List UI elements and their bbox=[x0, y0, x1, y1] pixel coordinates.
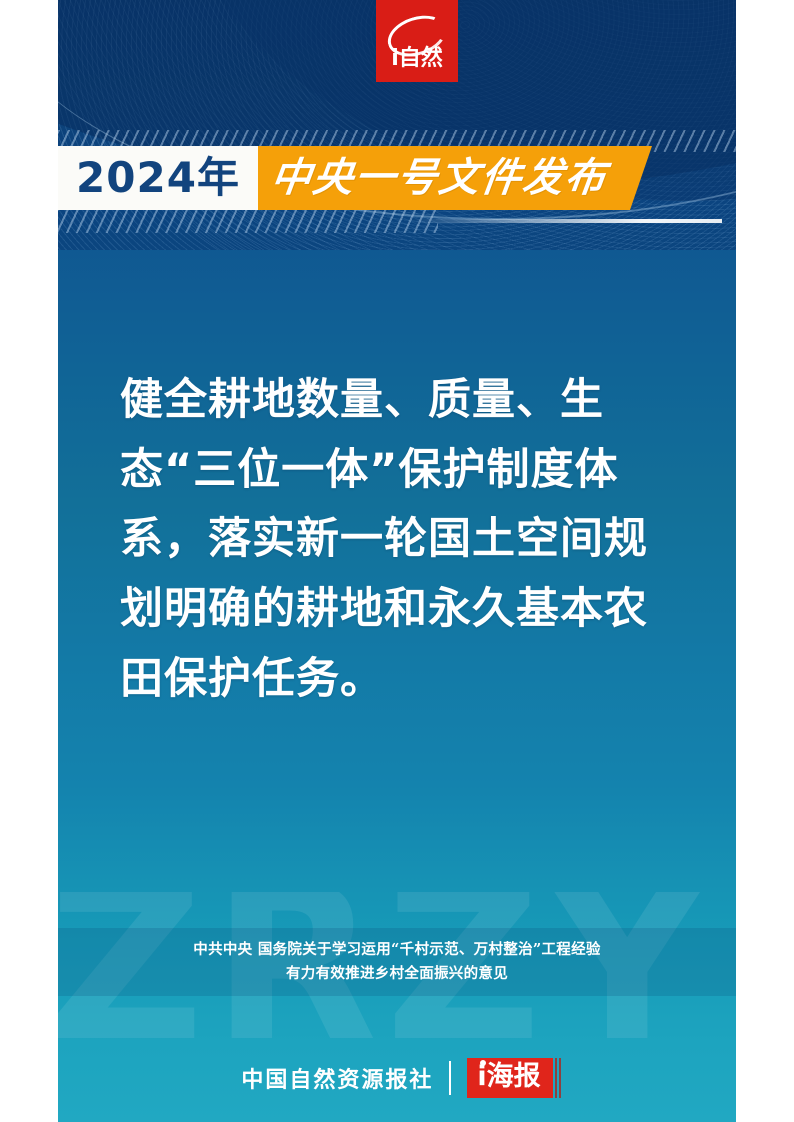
ihaibao-badge-text: i海报 bbox=[477, 1061, 540, 1092]
i-ziran-logo[interactable]: i自然 bbox=[376, 0, 458, 82]
title-highlight-line bbox=[411, 219, 723, 223]
title-banner: 2024年 中央一号文件发布 bbox=[58, 146, 736, 210]
title-headline-block: 中央一号文件发布 bbox=[258, 146, 630, 210]
poster-canvas: i自然 2024年 中央一号文件发布 健全耕地数量、质量、生态“三位一体”保护制… bbox=[58, 0, 736, 1122]
title-year-text: 2024年 bbox=[76, 157, 240, 199]
title-year-block: 2024年 bbox=[58, 146, 258, 210]
footnote-line-1: 中共中央 国务院关于学习运用“千村示范、万村整治”工程经验 bbox=[193, 938, 600, 962]
poster-footer: 中国自然资源报社 i海报 bbox=[58, 1052, 736, 1104]
footer-divider bbox=[449, 1061, 451, 1095]
main-headline: 健全耕地数量、质量、生态“三位一体”保护制度体系，落实新一轮国土空间规划明确的耕… bbox=[120, 366, 680, 714]
logo-text: i自然 bbox=[391, 48, 443, 70]
footnote-line-2: 有力有效推进乡村全面振兴的意见 bbox=[286, 962, 508, 986]
publisher-name: 中国自然资源报社 bbox=[241, 1062, 433, 1094]
hatch-band-bottom bbox=[58, 207, 438, 233]
title-headline-text: 中央一号文件发布 bbox=[269, 158, 610, 198]
ihaibao-badge[interactable]: i海报 bbox=[467, 1058, 552, 1097]
document-title-footnote: 中共中央 国务院关于学习运用“千村示范、万村整治”工程经验 有力有效推进乡村全面… bbox=[58, 928, 736, 996]
